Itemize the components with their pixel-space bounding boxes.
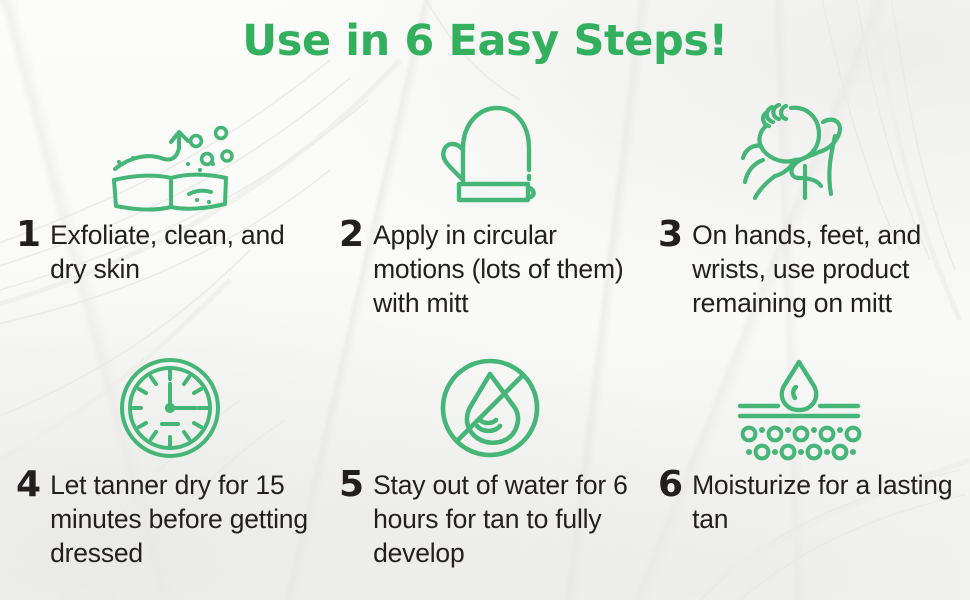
step-5-body: 5 Stay out of water for 6 hours for tan … <box>323 462 646 570</box>
exfoliate-skin-icon <box>105 112 235 212</box>
step-3-text: On hands, feet, and wrists, use product … <box>692 218 969 320</box>
step-4-icon-wrap <box>0 350 323 462</box>
step-item-3: 3 On hands, feet, and wrists, use produc… <box>646 100 969 320</box>
tanning-mitt-icon <box>435 100 545 212</box>
step-2-body: 2 Apply in circular motions (lots of the… <box>323 212 646 320</box>
step-item-1: 1 Exfoliate, clean, and dry skin <box>0 100 323 286</box>
step-5-text: Stay out of water for 6 hours for tan to… <box>373 468 646 570</box>
moisturize-skin-icon <box>734 354 864 462</box>
step-6-icon-wrap <box>646 350 969 462</box>
clock-icon <box>116 354 224 462</box>
steps-grid: 1 Exfoliate, clean, and dry skin 2 <box>0 100 970 600</box>
no-water-droplet-icon <box>436 354 544 462</box>
step-3-icon-wrap <box>646 100 969 212</box>
step-1-icon-wrap <box>0 100 323 212</box>
step-6-body: 6 Moisturize for a lasting tan <box>646 462 969 536</box>
step-3-body: 3 On hands, feet, and wrists, use produc… <box>646 212 969 320</box>
infographic-poster: Use in 6 Easy Steps! <box>0 0 970 600</box>
step-2-icon-wrap <box>323 100 646 212</box>
step-2-text: Apply in circular motions (lots of them)… <box>373 218 646 320</box>
step-4-body: 4 Let tanner dry for 15 minutes before g… <box>0 462 323 570</box>
rubbing-hands-icon <box>739 102 859 212</box>
step-2-number: 2 <box>339 218 373 252</box>
step-1-text: Exfoliate, clean, and dry skin <box>50 218 323 286</box>
step-5-number: 5 <box>339 468 373 502</box>
step-6-number: 6 <box>658 468 692 502</box>
step-5-icon-wrap <box>323 350 646 462</box>
step-3-number: 3 <box>658 218 692 252</box>
step-item-5: 5 Stay out of water for 6 hours for tan … <box>323 350 646 570</box>
step-6-text: Moisturize for a lasting tan <box>692 468 969 536</box>
step-4-text: Let tanner dry for 15 minutes before get… <box>50 468 323 570</box>
step-item-6: 6 Moisturize for a lasting tan <box>646 350 969 536</box>
step-1-body: 1 Exfoliate, clean, and dry skin <box>0 212 323 286</box>
step-item-2: 2 Apply in circular motions (lots of the… <box>323 100 646 320</box>
step-1-number: 1 <box>16 218 50 252</box>
step-4-number: 4 <box>16 468 50 502</box>
step-item-4: 4 Let tanner dry for 15 minutes before g… <box>0 350 323 570</box>
page-title: Use in 6 Easy Steps! <box>0 16 970 66</box>
